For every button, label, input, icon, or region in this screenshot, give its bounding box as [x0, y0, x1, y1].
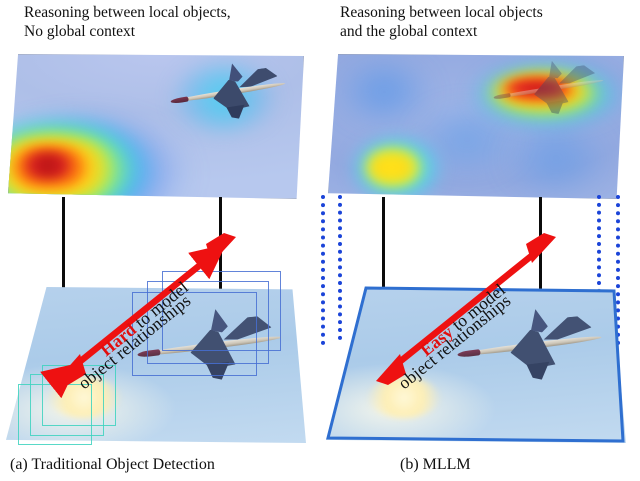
panel-caption-right: (b) MLLM	[400, 455, 471, 475]
panel-caption-left: (a) Traditional Object Detection	[10, 455, 215, 475]
panel-title-right: Reasoning between local objects and the …	[340, 3, 543, 41]
figure-root: Reasoning between local objects, No glob…	[0, 0, 640, 481]
panel-title-left: Reasoning between local objects, No glob…	[24, 3, 231, 41]
heatmap-slab-right	[328, 54, 624, 199]
heatmap-slab-edge-right	[328, 54, 624, 199]
heatmap-slab-edge-left	[8, 54, 304, 199]
panel-right: Easy to model object relationships	[320, 45, 640, 450]
heatmap-slab-left	[8, 54, 304, 199]
panel-left: Hard to model object relationships	[0, 45, 320, 450]
